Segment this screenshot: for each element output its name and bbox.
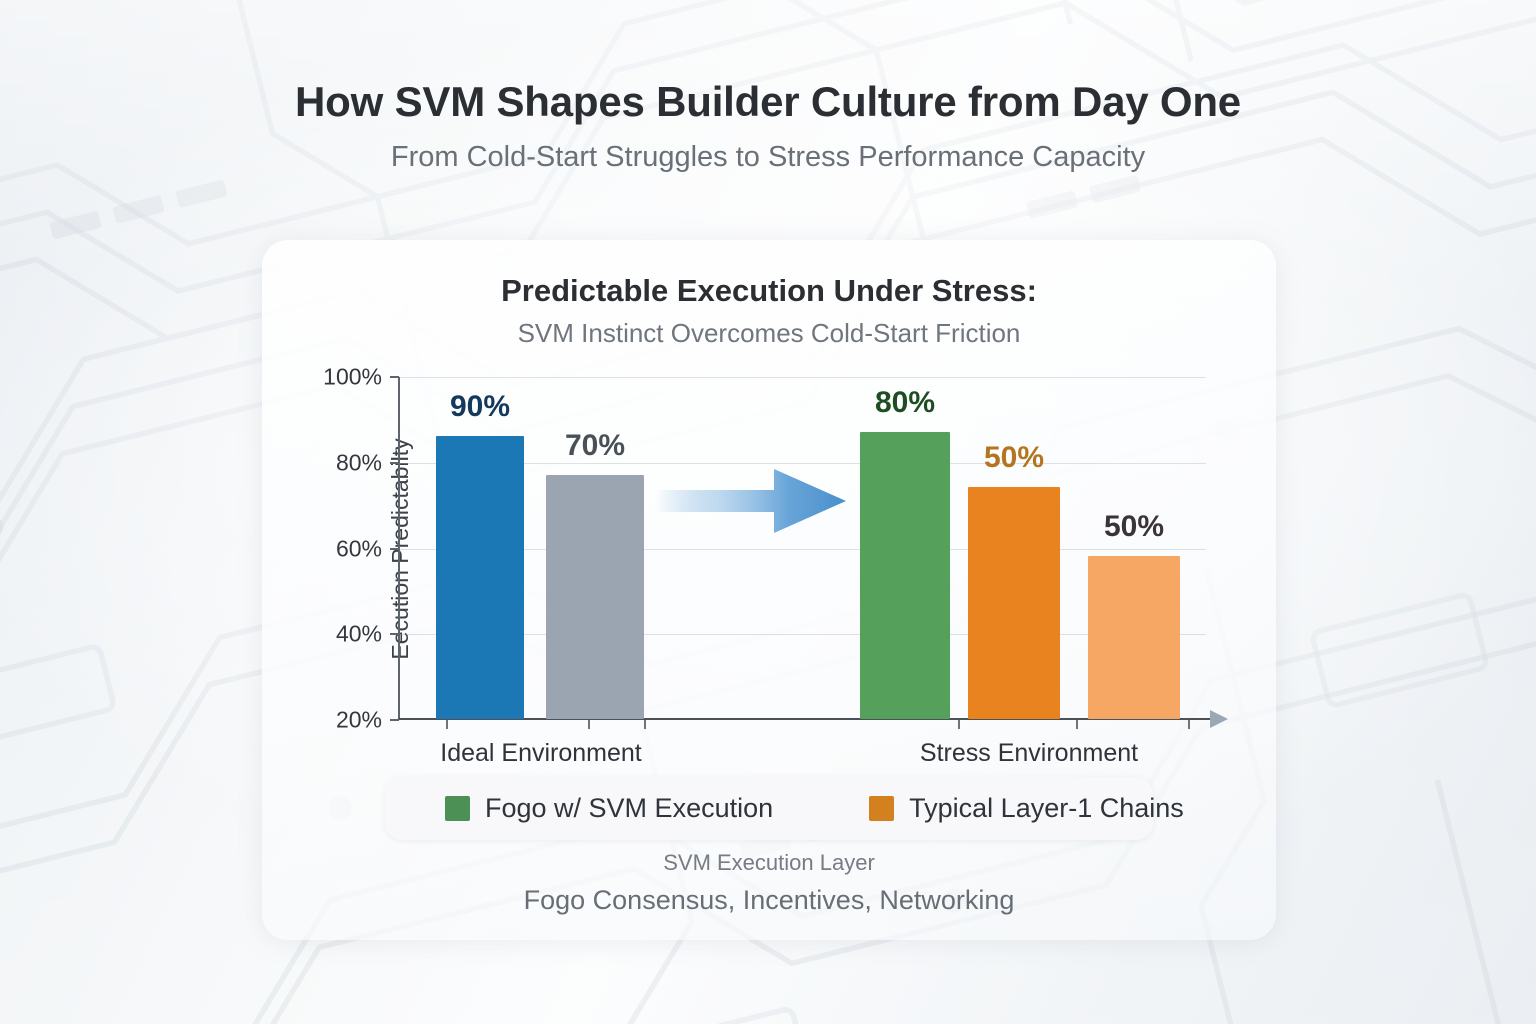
y-axis-tick (390, 633, 399, 635)
bar-chart-plot-area: Eecution Predictabilty 100%80%60%40%20% … (398, 377, 1208, 720)
bar[interactable]: 50% (968, 487, 1060, 719)
legend-swatch-icon (445, 796, 470, 821)
bar-value-label: 70% (565, 429, 625, 463)
slide-canvas: How SVM Shapes Builder Culture from Day … (0, 0, 1536, 1024)
bar-value-label: 80% (875, 386, 935, 420)
slide-header: How SVM Shapes Builder Culture from Day … (0, 78, 1536, 174)
x-axis-category-label: Stress Environment (920, 739, 1138, 768)
page-subtitle: From Cold-Start Struggles to Stress Perf… (0, 141, 1536, 174)
page-title: How SVM Shapes Builder Culture from Day … (0, 78, 1536, 125)
y-axis-tick (390, 548, 399, 550)
bar[interactable]: 70% (546, 475, 644, 719)
y-axis-tick-label: 100% (323, 364, 382, 391)
footer-secondary-label: Fogo Consensus, Incentives, Networking (262, 885, 1276, 916)
y-axis-tick-label: 80% (336, 449, 382, 476)
x-axis-tick (588, 720, 590, 729)
bar[interactable]: 90% (436, 436, 524, 719)
x-axis-arrow-icon (1210, 710, 1228, 728)
x-axis-tick (958, 720, 960, 729)
bar-value-label: 50% (984, 441, 1044, 475)
x-axis-tick (644, 720, 646, 729)
x-axis-tick (1076, 720, 1078, 729)
y-axis-tick-label: 40% (336, 621, 382, 648)
bar-value-label: 50% (1104, 510, 1164, 544)
chart-title: Predictable Execution Under Stress: (262, 273, 1276, 309)
bar[interactable]: 50% (1088, 556, 1180, 719)
legend-item[interactable]: Typical Layer-1 Chains (869, 793, 1184, 824)
legend-label: Typical Layer-1 Chains (909, 793, 1184, 824)
chart-subtitle: SVM Instinct Overcomes Cold-Start Fricti… (262, 318, 1276, 349)
bar[interactable]: 80% (860, 432, 950, 719)
x-axis-category-label: Ideal Environment (440, 739, 642, 768)
legend-label: Fogo w/ SVM Execution (485, 793, 773, 824)
y-axis-tick (390, 462, 399, 464)
x-axis-tick (446, 720, 448, 729)
y-axis-tick-label: 60% (336, 535, 382, 562)
chart-legend: Fogo w/ SVM Execution Typical Layer-1 Ch… (385, 777, 1153, 840)
footer-primary-label: SVM Execution Layer (262, 850, 1276, 876)
transition-arrow-icon (656, 463, 846, 539)
bar-value-label: 90% (450, 390, 510, 424)
y-axis-tick-label: 20% (336, 707, 382, 734)
y-axis-tick (390, 376, 399, 378)
chart-card: Predictable Execution Under Stress: SVM … (262, 240, 1276, 940)
x-axis-tick (1188, 720, 1190, 729)
legend-item[interactable]: Fogo w/ SVM Execution (445, 793, 773, 824)
legend-swatch-icon (869, 796, 894, 821)
y-axis-tick (390, 719, 399, 721)
gridline (400, 377, 1206, 378)
